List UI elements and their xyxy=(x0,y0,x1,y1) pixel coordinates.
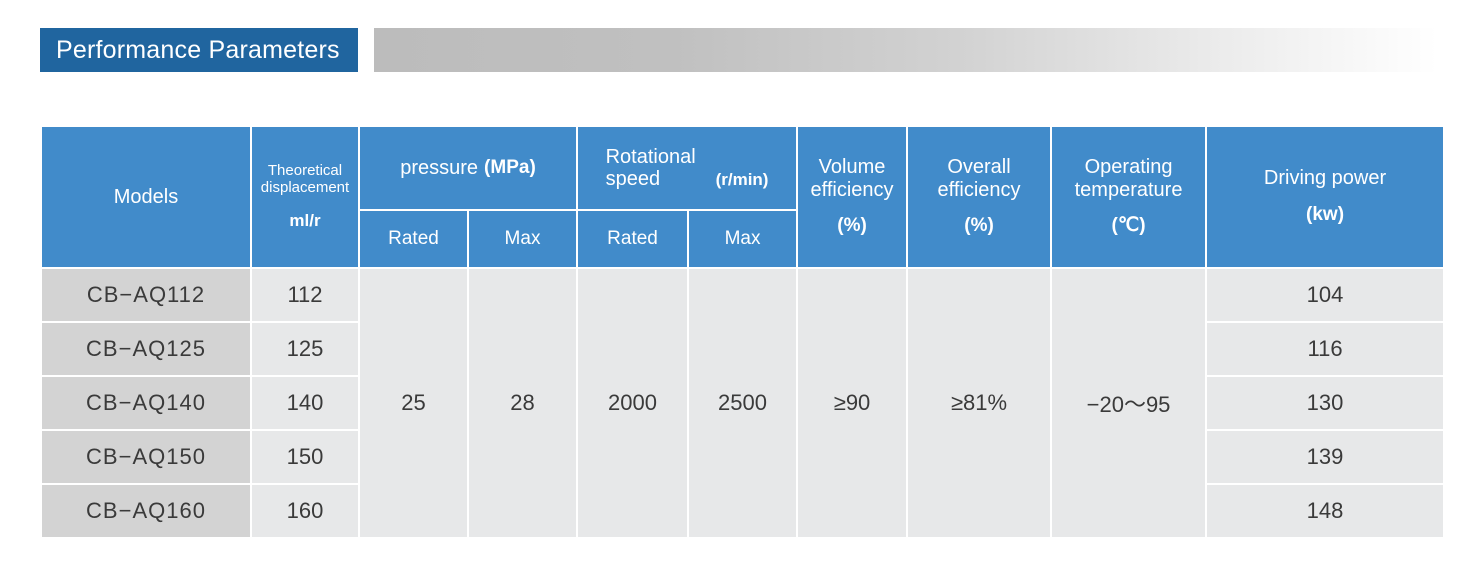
header-pressure-unit: (MPa) xyxy=(484,157,536,180)
cell-driving-power: 139 xyxy=(1207,431,1443,483)
header-speed-max-label: Max xyxy=(725,228,761,249)
header-overall-efficiency: Overall efficiency (%) xyxy=(908,127,1050,267)
section-title-band: Performance Parameters xyxy=(40,28,1438,72)
cell-displacement: 125 xyxy=(252,323,358,375)
header-overall-efficiency-unit: (%) xyxy=(964,215,994,238)
cell-displacement: 150 xyxy=(252,431,358,483)
cell-speed-rated: 2000 xyxy=(578,269,687,537)
cell-displacement: 112 xyxy=(252,269,358,321)
header-models-label: Models xyxy=(114,186,178,208)
cell-volume-efficiency: ≥90 xyxy=(798,269,906,537)
header-speed-max: Max xyxy=(689,211,796,267)
header-pressure-label: pressure xyxy=(400,157,478,179)
header-volume-efficiency-unit: (%) xyxy=(837,215,867,238)
header-operating-temperature-label: Operating temperature xyxy=(1062,156,1196,201)
title-gradient-bar xyxy=(374,28,1438,72)
table-header-row-primary: Models Theoretical displacement ml/r pre… xyxy=(42,127,1443,209)
cell-model: CB−AQ112 xyxy=(42,269,250,321)
header-volume-efficiency-label: Volume efficiency xyxy=(801,156,903,201)
header-speed-rated: Rated xyxy=(578,211,687,267)
header-speed-rated-label: Rated xyxy=(607,228,658,249)
performance-parameters-table: Models Theoretical displacement ml/r pre… xyxy=(40,125,1445,539)
cell-model: CB−AQ150 xyxy=(42,431,250,483)
cell-model: CB−AQ140 xyxy=(42,377,250,429)
header-driving-power-label: Driving power xyxy=(1264,167,1386,189)
page-title: Performance Parameters xyxy=(40,28,358,72)
cell-displacement: 160 xyxy=(252,485,358,537)
header-volume-efficiency: Volume efficiency (%) xyxy=(798,127,906,267)
header-rotational-speed: Rotational speed (r/min) xyxy=(578,127,796,209)
cell-model: CB−AQ160 xyxy=(42,485,250,537)
header-operating-temperature-unit: (℃) xyxy=(1112,215,1146,238)
cell-operating-temperature: −20～95 xyxy=(1052,269,1205,537)
cell-overall-efficiency: ≥81% xyxy=(908,269,1050,537)
header-driving-power: Driving power (kw) xyxy=(1207,127,1443,267)
header-rotational-speed-label: Rotational speed xyxy=(606,146,710,191)
cell-speed-max: 2500 xyxy=(689,269,796,537)
performance-parameters-table-wrap: Models Theoretical displacement ml/r pre… xyxy=(40,125,1438,539)
cell-driving-power: 104 xyxy=(1207,269,1443,321)
cell-pressure-rated: 25 xyxy=(360,269,467,537)
header-theoretical-displacement-label: Theoretical displacement xyxy=(252,163,358,197)
header-rotational-speed-unit: (r/min) xyxy=(716,170,769,190)
header-theoretical-displacement-unit: ml/r xyxy=(289,211,320,231)
table-row: CB−AQ112 112 25 28 2000 2500 ≥90 ≥81% −2… xyxy=(42,269,1443,321)
cell-pressure-max: 28 xyxy=(469,269,576,537)
cell-displacement: 140 xyxy=(252,377,358,429)
header-pressure-rated: Rated xyxy=(360,211,467,267)
cell-driving-power: 116 xyxy=(1207,323,1443,375)
cell-driving-power: 130 xyxy=(1207,377,1443,429)
header-driving-power-unit: (kw) xyxy=(1306,204,1344,227)
header-theoretical-displacement: Theoretical displacement ml/r xyxy=(252,127,358,267)
header-overall-efficiency-label: Overall efficiency xyxy=(928,156,1030,201)
header-operating-temperature: Operating temperature (℃) xyxy=(1052,127,1205,267)
header-pressure-max-label: Max xyxy=(505,228,541,249)
cell-driving-power: 148 xyxy=(1207,485,1443,537)
header-pressure-max: Max xyxy=(469,211,576,267)
header-pressure-rated-label: Rated xyxy=(388,228,439,249)
header-models: Models xyxy=(42,127,250,267)
header-pressure: pressure (MPa) xyxy=(360,127,576,209)
cell-model: CB−AQ125 xyxy=(42,323,250,375)
